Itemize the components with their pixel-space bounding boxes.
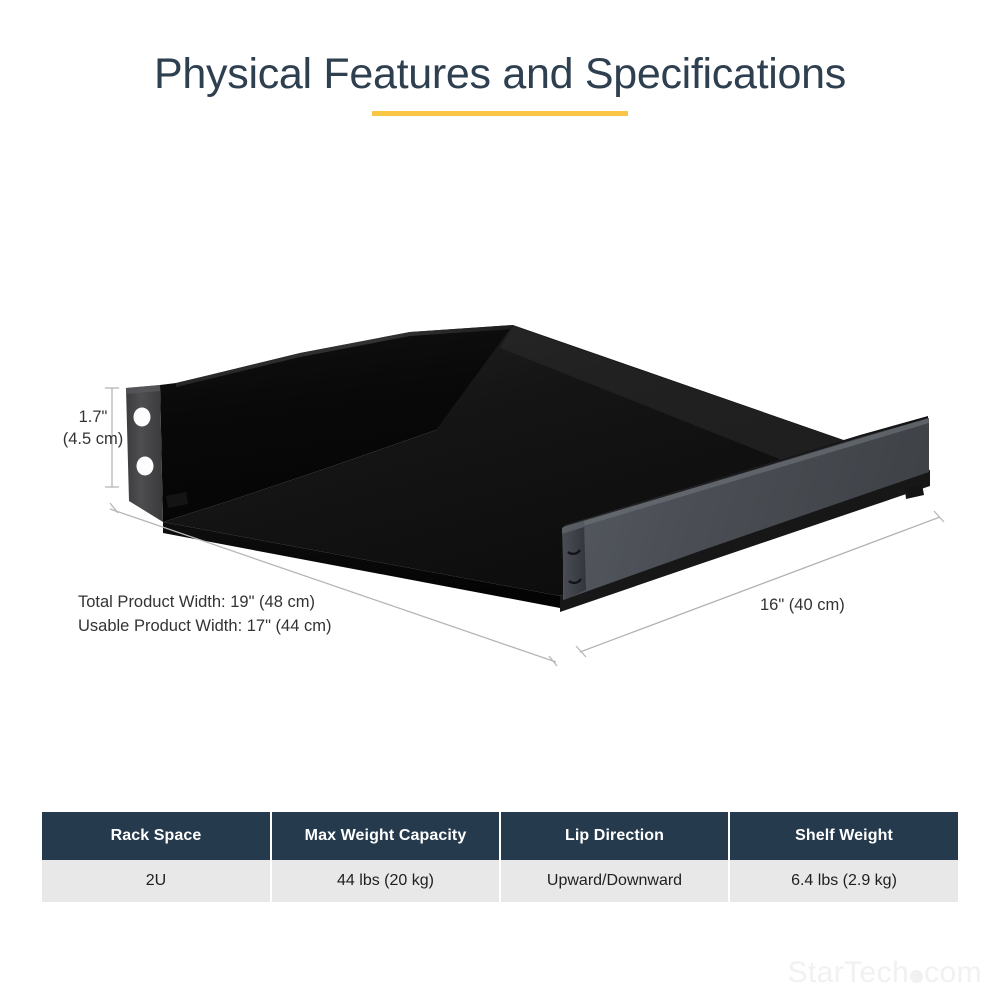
depth-dim-cap-left: [576, 646, 586, 657]
specifications-table: Rack Space Max Weight Capacity Lip Direc…: [42, 812, 958, 902]
front-lip-outer-face: [563, 418, 929, 600]
spec-header-max-weight-capacity: Max Weight Capacity: [271, 812, 500, 860]
watermark-text-before: StarTech: [788, 958, 910, 988]
usable-width-label: Usable Product Width: 17" (44 cm): [78, 614, 331, 638]
right-bracket-hole-bottom: [569, 579, 581, 583]
left-bracket-top-bevel: [126, 385, 160, 394]
spec-value-shelf-weight: 6.4 lbs (2.9 kg): [729, 860, 958, 902]
width-dim-line: [110, 509, 556, 662]
shelf-foot-left: [166, 492, 188, 508]
height-dimension-label: 1.7" (4.5 cm): [62, 406, 124, 450]
title-block: Physical Features and Specifications: [0, 50, 1000, 116]
width-dimension-labels: Total Product Width: 19" (48 cm) Usable …: [78, 590, 331, 638]
spec-header-rack-space: Rack Space: [42, 812, 271, 860]
spec-value-rack-space: 2U: [42, 860, 271, 902]
page-title: Physical Features and Specifications: [0, 50, 1000, 99]
spec-table-header-row: Rack Space Max Weight Capacity Lip Direc…: [42, 812, 958, 860]
spec-header-lip-direction: Lip Direction: [500, 812, 729, 860]
right-bracket-hole-top: [568, 550, 580, 554]
spec-table-head: Rack Space Max Weight Capacity Lip Direc…: [42, 812, 958, 860]
left-mounting-bracket: [126, 385, 163, 522]
shelf-underside-edge: [560, 470, 930, 612]
spec-value-max-weight-capacity: 44 lbs (20 kg): [271, 860, 500, 902]
width-dim-cap-left: [110, 503, 118, 513]
startech-watermark: StarTech com: [788, 958, 982, 988]
table-row: 2U 44 lbs (20 kg) Upward/Downward 6.4 lb…: [42, 860, 958, 902]
front-lip-top-edge: [563, 418, 929, 532]
spec-header-shelf-weight: Shelf Weight: [729, 812, 958, 860]
width-dim-cap-right: [549, 656, 557, 666]
depth-dim-line: [580, 517, 940, 652]
right-mounting-bracket: [562, 521, 586, 600]
shelf-surface-highlight: [500, 326, 926, 491]
page-root: Physical Features and Specifications: [0, 0, 1000, 1000]
title-underline-accent: [372, 111, 628, 116]
left-bracket-hole-bottom: [137, 457, 154, 476]
left-bracket-hole-top: [134, 408, 151, 427]
rear-lip-top-edge: [176, 325, 513, 387]
depth-dim-cap-right: [934, 511, 944, 522]
shelf-foot-right: [905, 484, 924, 499]
shelf-body: [160, 325, 930, 612]
total-width-label: Total Product Width: 19" (48 cm): [78, 590, 331, 614]
spec-value-lip-direction: Upward/Downward: [500, 860, 729, 902]
front-lip-inner-face: [565, 416, 928, 596]
watermark-text-after: com: [924, 958, 982, 988]
height-dimension-imperial: 1.7": [62, 406, 124, 428]
height-dimension-metric: (4.5 cm): [62, 428, 124, 450]
shelf-top-surface: [163, 325, 930, 596]
watermark-dot-icon: [910, 970, 923, 983]
spec-table-body: 2U 44 lbs (20 kg) Upward/Downward 6.4 lb…: [42, 860, 958, 902]
right-bracket-top-bevel: [562, 521, 584, 534]
depth-dimension-label: 16" (40 cm): [760, 594, 845, 616]
rear-lip-wall: [160, 325, 513, 522]
